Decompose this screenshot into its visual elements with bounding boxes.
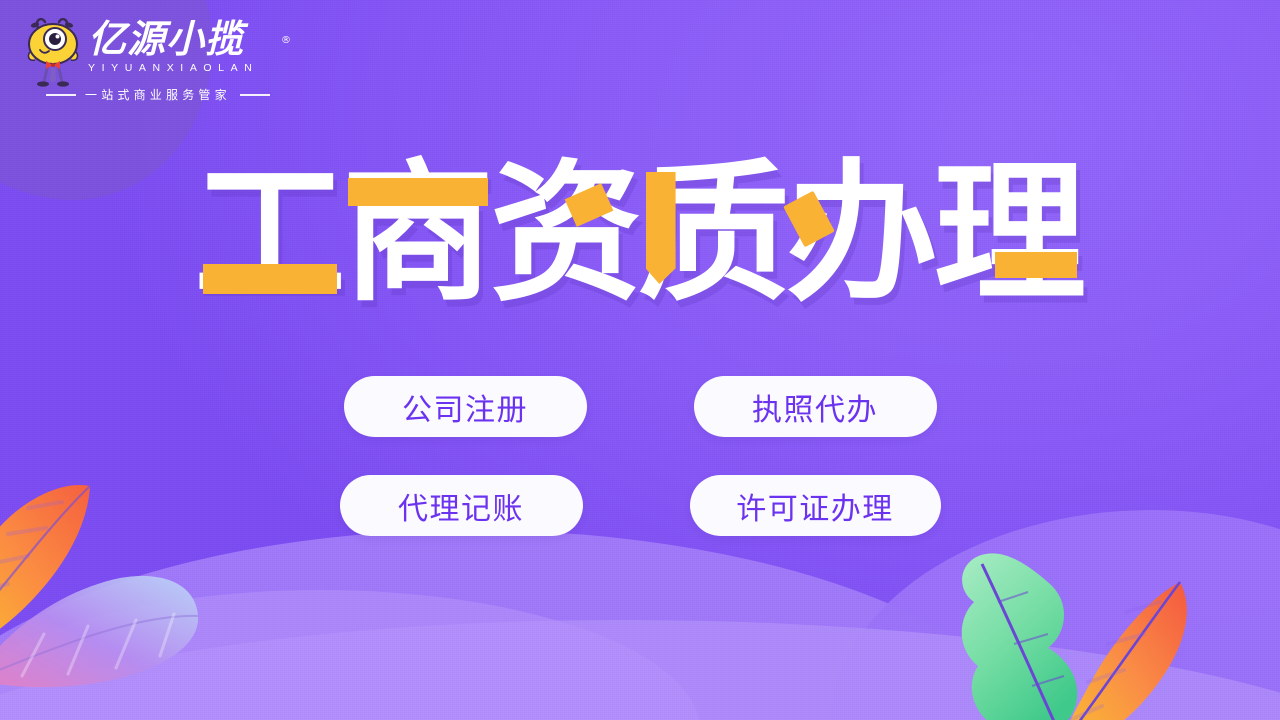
wordmark-pinyin: YIYUANXIAOLAN	[88, 62, 278, 74]
service-pill-row-1: 公司注册 执照代办	[344, 376, 937, 437]
headline-char-6: 理	[934, 148, 1086, 320]
headline-char-2: 商	[342, 148, 494, 320]
headline-char-1: 工	[194, 148, 346, 320]
headline-char-5: 办	[786, 148, 938, 320]
tagline-dash-right	[240, 94, 270, 96]
orange-feather-leaf-right-icon	[1052, 578, 1202, 720]
wordmark-text: 亿源小揽 ®	[88, 18, 278, 60]
service-pill-bookkeeping[interactable]: 代理记账	[340, 475, 583, 536]
headline-char-1-glyph: 工	[194, 145, 346, 322]
headline-char-4: 质	[638, 148, 790, 320]
tagline-dash-left	[46, 94, 76, 96]
wordmark-label: 亿源小揽	[88, 17, 244, 61]
brand-logo[interactable]: 亿源小揽 ® YIYUANXIAOLAN 一站式商业服务管家	[18, 8, 280, 106]
registered-trademark-icon: ®	[281, 20, 292, 62]
headline-char-4-glyph: 质	[638, 145, 790, 322]
service-pill-license-agency[interactable]: 执照代办	[694, 376, 937, 437]
wordmark-group: 亿源小揽 ® YIYUANXIAOLAN	[88, 18, 278, 74]
service-pill-row-2: 代理记账 许可证办理	[340, 475, 941, 536]
yiyuan-mascot-icon	[22, 12, 84, 94]
promo-banner: 亿源小揽 ® YIYUANXIAOLAN 一站式商业服务管家 工 商 资 质 办	[0, 0, 1280, 720]
headline: 工 商 资 质 办 理	[0, 148, 1280, 320]
headline-char-3-glyph: 资	[490, 145, 642, 322]
pink-blue-feather-leaf-icon	[0, 568, 200, 688]
headline-char-5-glyph: 办	[786, 145, 938, 322]
headline-char-6-glyph: 理	[934, 145, 1086, 322]
headline-char-2-glyph: 商	[342, 145, 494, 322]
brand-tagline: 一站式商业服务管家	[46, 88, 270, 102]
service-pill-permit-processing[interactable]: 许可证办理	[690, 475, 941, 536]
service-pill-company-registration[interactable]: 公司注册	[344, 376, 587, 437]
tagline-text: 一站式商业服务管家	[85, 88, 231, 102]
service-pill-grid: 公司注册 执照代办 代理记账 许可证办理	[0, 376, 1280, 536]
headline-char-3: 资	[490, 148, 642, 320]
